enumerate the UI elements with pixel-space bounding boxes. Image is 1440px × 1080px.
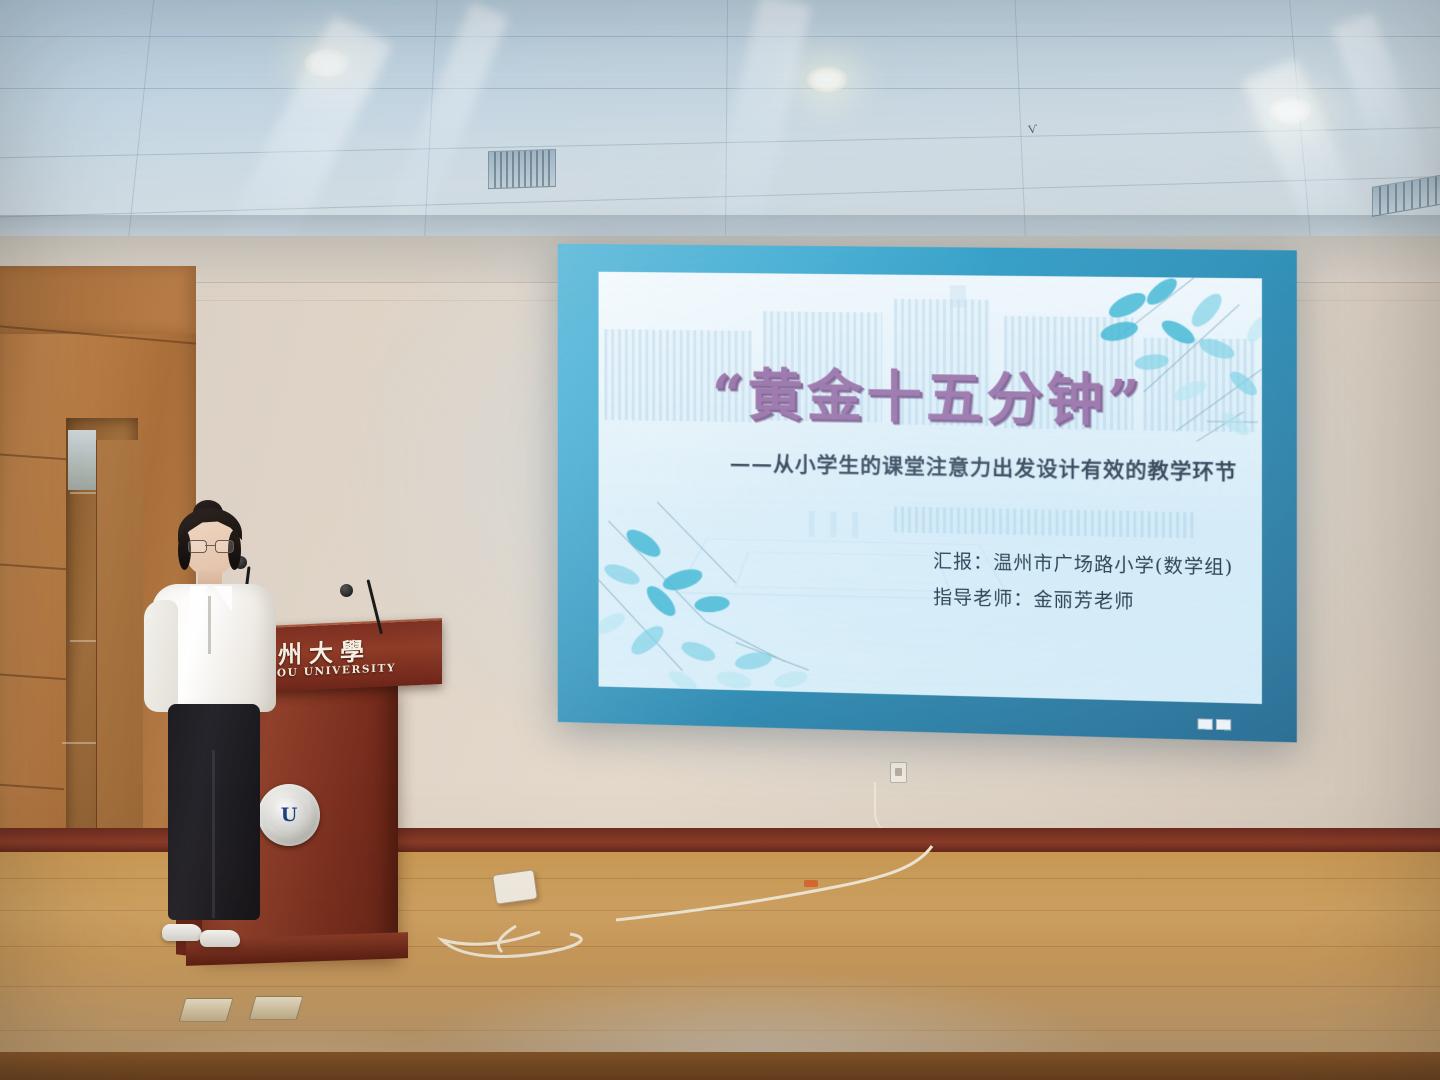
screen-frame-mark [1198, 718, 1213, 730]
air-vent-grille-right [1372, 173, 1440, 217]
shoe-left [162, 924, 202, 941]
left-arm [144, 600, 178, 712]
power-strip[interactable] [492, 869, 538, 905]
slide-background-photo [599, 272, 1262, 704]
ceiling-downlight [806, 66, 848, 93]
door-upper-light-gap [68, 430, 96, 490]
shirt-collar-right [214, 586, 232, 612]
stage-edge [0, 1052, 1440, 1080]
door-leaf[interactable] [96, 440, 143, 866]
slide-credits: 汇报：温州市广场路小学(数学组) 指导老师：金丽芳老师 [933, 543, 1233, 622]
ceiling: Ѵ [0, 0, 1440, 250]
air-vent-grille [488, 149, 556, 189]
ceiling-downlight [1268, 96, 1312, 125]
shirt-collar-left [190, 586, 208, 612]
ceiling-downlight [304, 48, 350, 78]
presentation-slide: “黄金十五分钟” ——从小学生的课堂注意力出发设计有效的教学环节 汇报：温州市广… [599, 272, 1262, 704]
screen-frame-mark [1216, 719, 1231, 731]
auditorium-photo: Ѵ [0, 0, 1440, 1080]
wood-panel-wall-top [0, 266, 196, 334]
microphone-head-right [340, 584, 353, 597]
floor-outlet-cover[interactable] [179, 998, 234, 1022]
shoe-right [200, 930, 240, 947]
projection-screen: “黄金十五分钟” ——从小学生的课堂注意力出发设计有效的教学环节 汇报：温州市广… [558, 244, 1297, 743]
slide-title: “黄金十五分钟” [599, 349, 1262, 440]
floor-outlet-cover[interactable] [249, 996, 304, 1020]
shirt-placket [208, 596, 211, 654]
trouser-seam [212, 750, 215, 918]
extension-cord [420, 840, 940, 970]
glasses [188, 540, 232, 551]
slide-credit-advisor: 指导老师：金丽芳老师 [933, 579, 1233, 622]
ceiling-fixture-mark: Ѵ [1027, 121, 1039, 137]
wall-power-outlet[interactable] [890, 762, 907, 783]
presenter [140, 500, 290, 960]
